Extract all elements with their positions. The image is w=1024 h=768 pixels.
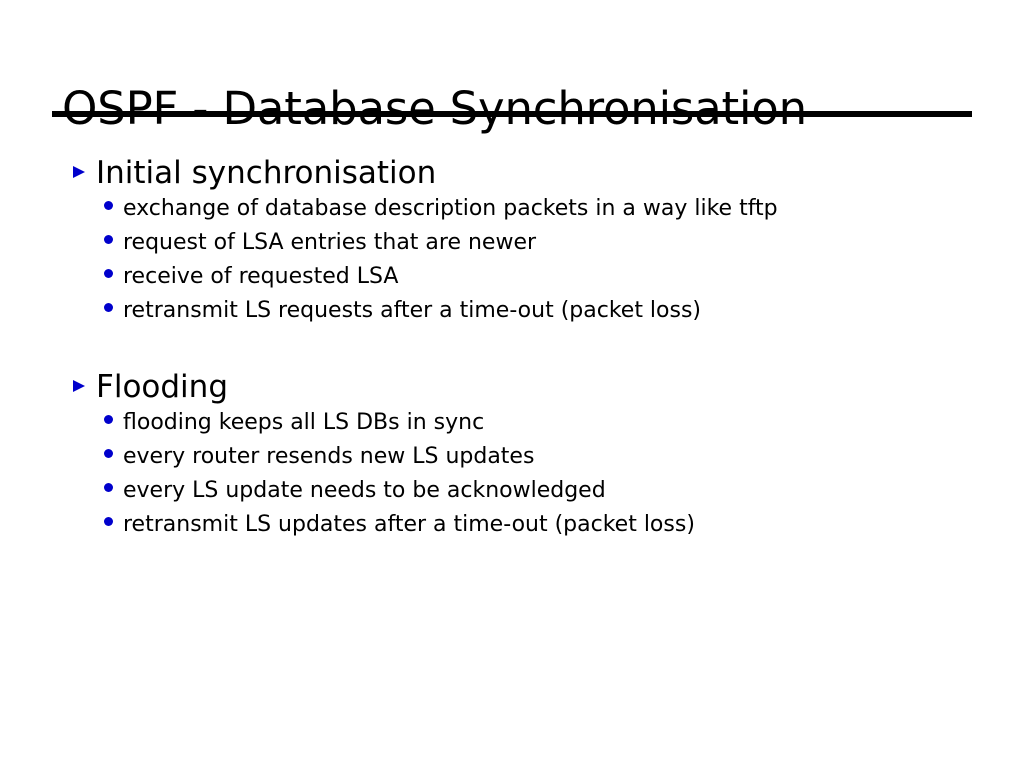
- level2-bullet-label: flooding keeps all LS DBs in sync: [123, 409, 484, 437]
- page-title: OSPF - Database Synchronisation: [62, 82, 807, 136]
- blue-round-bullet-icon: [104, 201, 113, 210]
- level2-bullet-list: exchange of database description packets…: [0, 195, 1024, 331]
- blue-round-bullet-icon: [104, 303, 113, 312]
- slide-body: Initial synchronisation exchange of data…: [0, 155, 1024, 545]
- blue-triangle-bullet-icon: [72, 164, 86, 180]
- level2-bullet-item: exchange of database description packets…: [0, 195, 1024, 229]
- bullet-group: Flooding flooding keeps all LS DBs in sy…: [0, 369, 1024, 545]
- blue-round-bullet-icon: [104, 269, 113, 278]
- level2-bullet-item: receive of requested LSA: [0, 263, 1024, 297]
- level2-bullet-item: retransmit LS updates after a time-out (…: [0, 511, 1024, 545]
- level2-bullet-item: flooding keeps all LS DBs in sync: [0, 409, 1024, 443]
- level2-bullet-label: every router resends new LS updates: [123, 443, 534, 471]
- level2-bullet-item: retransmit LS requests after a time-out …: [0, 297, 1024, 331]
- blue-round-bullet-icon: [104, 449, 113, 458]
- level2-bullet-label: retransmit LS requests after a time-out …: [123, 297, 701, 325]
- blue-triangle-bullet-icon: [72, 378, 86, 394]
- level2-bullet-item: every router resends new LS updates: [0, 443, 1024, 477]
- level1-bullet-label: Flooding: [96, 369, 228, 405]
- level2-bullet-item: request of LSA entries that are newer: [0, 229, 1024, 263]
- level1-bullet-label: Initial synchronisation: [96, 155, 436, 191]
- level2-bullet-list: flooding keeps all LS DBs in sync every …: [0, 409, 1024, 545]
- blue-round-bullet-icon: [104, 415, 113, 424]
- level2-bullet-label: exchange of database description packets…: [123, 195, 778, 223]
- title-underline-rule: [52, 111, 972, 117]
- level2-bullet-label: request of LSA entries that are newer: [123, 229, 536, 257]
- presentation-slide: OSPF - Database Synchronisation Initial …: [0, 0, 1024, 768]
- bullet-group: Initial synchronisation exchange of data…: [0, 155, 1024, 331]
- level1-bullet-item: Flooding: [0, 369, 1024, 409]
- level2-bullet-label: retransmit LS updates after a time-out (…: [123, 511, 695, 539]
- level1-bullet-item: Initial synchronisation: [0, 155, 1024, 195]
- blue-round-bullet-icon: [104, 483, 113, 492]
- level2-bullet-item: every LS update needs to be acknowledged: [0, 477, 1024, 511]
- blue-round-bullet-icon: [104, 517, 113, 526]
- blue-round-bullet-icon: [104, 235, 113, 244]
- level2-bullet-label: receive of requested LSA: [123, 263, 398, 291]
- level2-bullet-label: every LS update needs to be acknowledged: [123, 477, 606, 505]
